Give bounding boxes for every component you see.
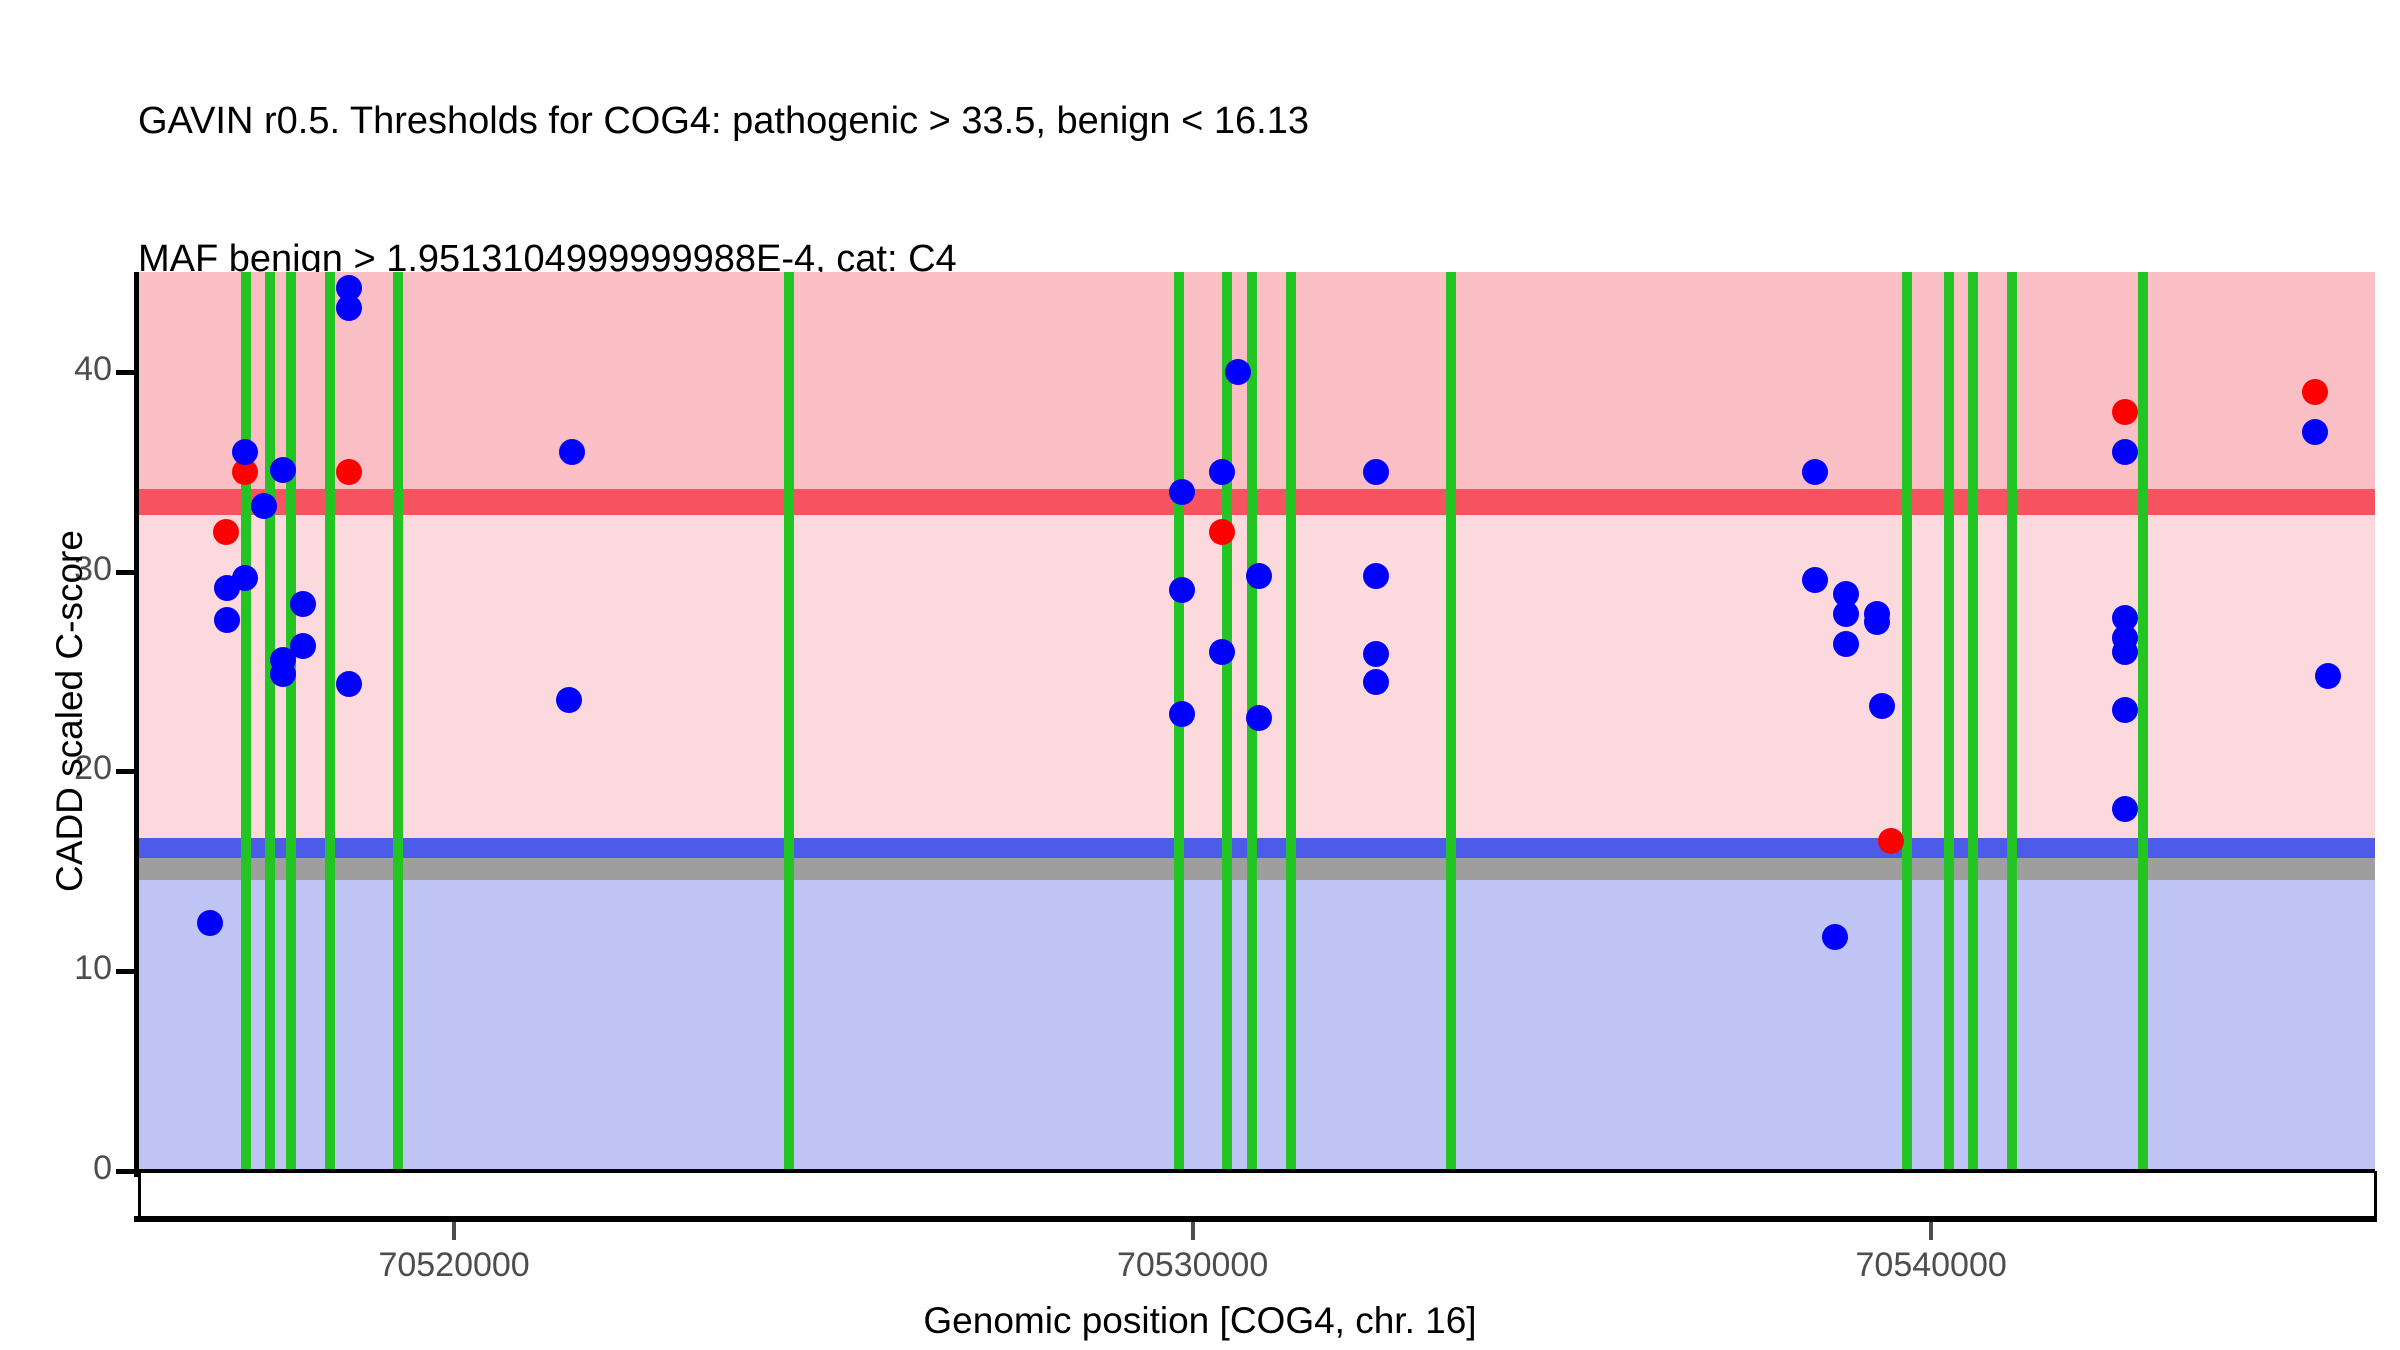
- gnomad-variant-point: [1833, 601, 1859, 627]
- pathogenic-variant-point: [213, 519, 239, 545]
- gnomad-variant-point: [1246, 563, 1272, 589]
- x-tick: [1191, 1222, 1195, 1240]
- gnomad-variant-point: [2315, 663, 2341, 689]
- exon-line: [393, 272, 403, 1171]
- x-tick-label: 70530000: [1117, 1246, 1268, 1285]
- gnomad-variant-point: [336, 295, 362, 321]
- exon-line: [2138, 272, 2148, 1171]
- title-line-1: GAVIN r0.5. Thresholds for COG4: pathoge…: [138, 98, 2338, 144]
- plot-root: GAVIN r0.5. Thresholds for COG4: pathoge…: [0, 0, 2400, 1350]
- gnomad-variant-point: [1209, 639, 1235, 665]
- x-tick-label: 70540000: [1856, 1246, 2007, 1285]
- gnomad-variant-point: [559, 439, 585, 465]
- gnomad-variant-point: [1802, 459, 1828, 485]
- gnomad-variant-point: [1363, 641, 1389, 667]
- gnomad-variant-point: [1209, 459, 1235, 485]
- gnomad-variant-point: [1864, 609, 1890, 635]
- y-tick: [116, 570, 138, 575]
- panel-right-edge: [2374, 1171, 2377, 1217]
- y-tick-label: 0: [0, 1149, 112, 1188]
- exon-line: [265, 272, 275, 1171]
- exon-line: [1446, 272, 1456, 1171]
- gnomad-variant-point: [1169, 701, 1195, 727]
- exon-line: [1286, 272, 1296, 1171]
- exon-line: [784, 272, 794, 1171]
- exon-line: [2007, 272, 2017, 1171]
- panel-left-edge: [138, 1171, 141, 1217]
- zero-baseline: [138, 1169, 2375, 1173]
- gnomad-variant-point: [251, 493, 277, 519]
- y-tick: [116, 769, 138, 774]
- gnomad-variant-point: [232, 565, 258, 591]
- y-axis-title: CADD scaled C-score: [49, 331, 91, 1091]
- exon-line: [286, 272, 296, 1171]
- gnomad-variant-point: [1802, 567, 1828, 593]
- gnomad-variant-point: [1363, 563, 1389, 589]
- gnomad-variant-point: [2112, 639, 2138, 665]
- exon-line: [1222, 272, 1232, 1171]
- x-axis-title: Genomic position [COG4, chr. 16]: [0, 1300, 2400, 1342]
- pathogenic-variant-point: [1209, 519, 1235, 545]
- exon-line: [1968, 272, 1978, 1171]
- gnomad-variant-point: [214, 607, 240, 633]
- gnomad-variant-point: [270, 661, 296, 687]
- gnomad-variant-point: [1246, 705, 1272, 731]
- gnomad-variant-point: [1363, 459, 1389, 485]
- gnomad-variant-point: [290, 633, 316, 659]
- exon-line: [1944, 272, 1954, 1171]
- gnomad-variant-point: [336, 671, 362, 697]
- gnomad-variant-point: [1169, 577, 1195, 603]
- y-tick: [116, 370, 138, 375]
- gnomad-variant-point: [2302, 419, 2328, 445]
- pathogenic-variant-point: [2302, 379, 2328, 405]
- gnomad-variant-point: [1833, 631, 1859, 657]
- pathogenic-variant-point: [336, 459, 362, 485]
- y-tick: [116, 969, 138, 974]
- plot-panel: [138, 272, 2375, 1171]
- gnomad-variant-point: [1169, 479, 1195, 505]
- x-axis-line: [134, 1216, 2377, 1222]
- x-tick-label: 70520000: [378, 1246, 529, 1285]
- exon-line: [325, 272, 335, 1171]
- gnomad-variant-point: [232, 439, 258, 465]
- x-tick: [452, 1222, 456, 1240]
- x-tick: [1929, 1222, 1933, 1240]
- y-axis-line: [134, 272, 139, 1177]
- gnomad-variant-point: [1869, 693, 1895, 719]
- gnomad-variant-point: [2112, 439, 2138, 465]
- y-tick: [116, 1169, 138, 1174]
- gnomad-variant-point: [2112, 697, 2138, 723]
- gnomad-variant-point: [556, 687, 582, 713]
- exon-line: [241, 272, 251, 1171]
- exon-line: [1902, 272, 1912, 1171]
- gnomad-variant-point: [290, 591, 316, 617]
- gnomad-variant-point: [1363, 669, 1389, 695]
